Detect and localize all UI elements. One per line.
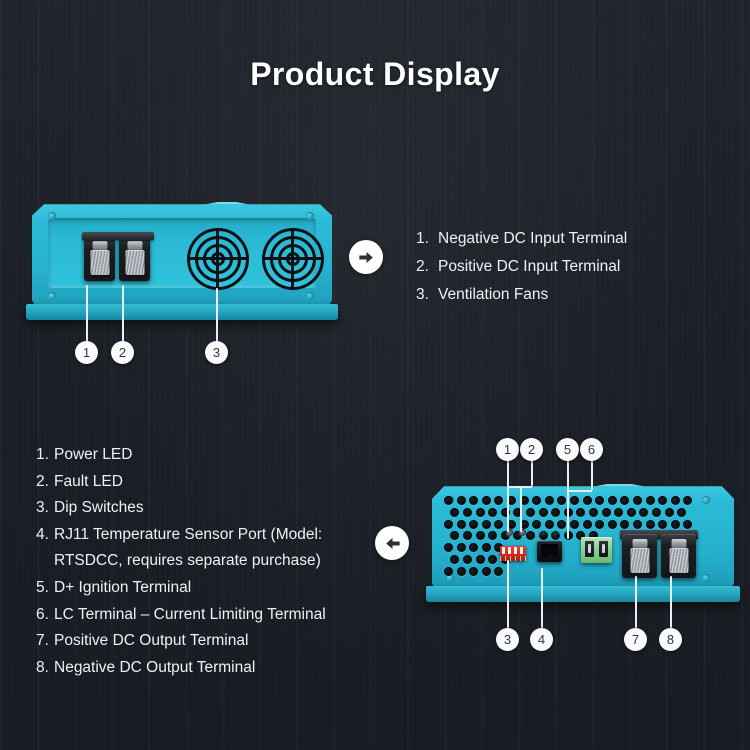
screw-icon [306,292,314,300]
vent-hole [494,520,503,529]
vent-hole [595,520,604,529]
positive-dc-output-terminal [622,534,657,578]
list-item-number: 5. [36,575,54,602]
callout-leader-line [567,460,569,539]
list-item-label: Negative DC Input Terminal [438,225,627,253]
vent-hole [570,496,579,505]
list-item: 7.Positive DC Output Terminal [36,628,381,655]
list-item-label: RJ11 Temperature Sensor Port (Model: [54,522,322,549]
vent-hole [482,520,491,529]
vent-hole [646,496,655,505]
vent-hole [488,508,497,517]
terminal-bolt-icon [671,539,686,548]
callout-leader-line [520,486,522,532]
list-item: 4.RJ11 Temperature Sensor Port (Model: [36,522,381,549]
callout-leader-line [507,460,509,532]
vent-hole [469,567,478,576]
vent-hole [463,555,472,564]
list-item-number: 7. [36,628,54,655]
terminal-stud-icon [90,250,109,275]
bottom-device-legend: 1.Power LED 2.Fault LED 3.Dip Switches 4… [36,442,381,681]
vent-hole [482,567,491,576]
terminal-bolt-icon [632,539,647,548]
vent-hole [444,567,453,576]
screw-icon [48,292,56,300]
vent-hole [457,567,466,576]
screw-icon [702,496,710,504]
vent-hole [444,520,453,529]
vent-hole [494,496,503,505]
callout-3[interactable]: 3 [205,341,228,364]
green-terminal-block [581,537,612,563]
terminal-stud-icon [630,548,649,573]
callout-4[interactable]: 4 [530,628,553,651]
negative-dc-input-terminal [84,236,115,281]
screw-icon [702,574,710,582]
vent-hole [476,508,485,517]
vent-hole [589,508,598,517]
list-item-number: 8. [36,655,54,682]
callout-leader-line [216,288,218,342]
dip-switch-lever[interactable] [514,547,517,554]
green-terminal-pin [599,541,608,557]
vent-hole [463,531,472,540]
list-item-number: 4. [36,522,54,549]
terminal-stud-icon [669,548,688,573]
fan-spoke [187,257,249,260]
list-item-number: 2. [36,469,54,496]
list-item: 1.Power LED [36,442,381,469]
page-title: Product Display [0,56,750,93]
list-item-label: LC Terminal – Current Limiting Terminal [54,602,326,629]
callout-1[interactable]: 1 [75,341,98,364]
vent-hole [526,508,535,517]
arrow-right-circle-icon [349,240,383,274]
dip-switch-lever[interactable] [502,547,505,554]
screw-icon [306,212,314,220]
vent-hole [482,496,491,505]
vent-hole [450,555,459,564]
vent-hole [545,496,554,505]
dip-switch-lever[interactable] [508,547,511,554]
vent-hole [614,508,623,517]
vent-hole [602,508,611,517]
ventilation-fan-left [187,228,249,290]
list-item-label: Ventilation Fans [438,281,548,309]
list-item-label: Fault LED [54,469,123,496]
list-item-label: D+ Ignition Terminal [54,575,191,602]
vent-hole [557,520,566,529]
vent-hole [583,520,592,529]
sensor-marking-label: SENSOR [537,530,568,537]
list-item-label: Positive DC Input Terminal [438,253,620,281]
vent-hole [627,508,636,517]
callout-leader-line [531,460,533,486]
terminal-stud-icon [125,250,144,275]
callout-leader-line [635,576,637,628]
vent-hole [658,496,667,505]
vent-hole [658,520,667,529]
terminal-bolt-icon [127,241,142,250]
callout-5[interactable]: 5 [556,438,579,461]
list-item: 3.Dip Switches [36,495,381,522]
dip-switch-lever[interactable] [520,547,523,554]
list-item-label: Dip Switches [54,495,144,522]
vent-hole [551,508,560,517]
vent-hole [576,508,585,517]
list-item-number: 1. [36,442,54,469]
list-item-number: 1. [416,225,438,253]
vent-hole [633,520,642,529]
vent-hole [532,520,541,529]
vent-hole [639,508,648,517]
vent-hole [444,543,453,552]
vent-hole [633,496,642,505]
vent-hole [532,496,541,505]
vent-hole [457,520,466,529]
rj11-tab [547,555,552,561]
vent-hole [457,496,466,505]
vent-hole [488,555,497,564]
list-item: 2.Fault LED [36,469,381,496]
vent-hole [665,508,674,517]
vent-hole [545,520,554,529]
terminal-bolt-icon [92,241,107,250]
vent-hole [652,508,661,517]
callout-2[interactable]: 2 [520,438,543,461]
list-item-number: 3. [36,495,54,522]
callout-leader-line [567,490,592,492]
list-item-label: Power LED [54,442,132,469]
vent-hole [469,543,478,552]
arrow-left-circle-icon [375,526,409,560]
list-item-number: 3. [416,281,438,309]
device-base-rail [426,586,740,602]
rj11-temperature-sensor-port [537,541,562,562]
list-item-number: 6. [36,602,54,629]
vent-hole [494,567,503,576]
vent-hole [608,496,617,505]
vent-hole [463,508,472,517]
vent-hole [583,496,592,505]
vent-hole [450,508,459,517]
vent-hole [608,520,617,529]
vent-hole [476,531,485,540]
callout-leader-line [670,576,672,628]
vent-hole [488,531,497,540]
list-item-label: Positive DC Output Terminal [54,628,248,655]
vent-hole [469,520,478,529]
list-item: 8.Negative DC Output Terminal [36,655,381,682]
vent-hole [620,496,629,505]
callout-leader-line [591,460,593,490]
vent-hole [450,531,459,540]
vent-hole [476,555,485,564]
callout-leader-line [122,285,124,342]
callout-3[interactable]: 3 [496,628,519,651]
vent-hole [482,543,491,552]
minus-marking-label: − [701,556,705,563]
list-item: 1.Negative DC Input Terminal [416,225,716,253]
list-item-continuation: RTSDCC, requires separate purchase) [36,548,381,575]
inverter-back-panel-image: SENSOR REMOTE + − [424,478,742,623]
vent-hole [457,543,466,552]
inverter-front-panel-image [22,196,342,336]
callout-1[interactable]: 1 [496,438,519,461]
list-item-label: Negative DC Output Terminal [54,655,255,682]
list-item: 6.LC Terminal – Current Limiting Termina… [36,602,381,629]
vent-hole [683,520,692,529]
green-terminal-pin [585,541,594,557]
callout-2[interactable]: 2 [111,341,134,364]
list-item: 2.Positive DC Input Terminal [416,253,716,281]
callout-leader-line [86,285,88,342]
vent-hole [646,520,655,529]
callout-7[interactable]: 7 [624,628,647,651]
vent-hole [570,520,579,529]
vent-hole [677,508,686,517]
callout-leader-line [541,568,543,628]
fan-spoke [262,257,324,260]
vent-hole [444,496,453,505]
negative-dc-output-terminal [661,534,696,578]
vent-hole [595,496,604,505]
callout-leader-line [507,560,509,628]
screw-icon [48,212,56,220]
positive-dc-input-terminal [119,236,150,281]
vent-hole [557,496,566,505]
top-device-legend: 1.Negative DC Input Terminal 2.Positive … [416,225,716,309]
vent-hole [671,496,680,505]
terminal-cover-lip [82,232,154,240]
vent-hole [526,531,535,540]
list-item: 5.D+ Ignition Terminal [36,575,381,602]
vent-hole [620,520,629,529]
vent-hole [671,520,680,529]
callout-8[interactable]: 8 [659,628,682,651]
ventilation-fan-right [262,228,324,290]
list-item-number: 2. [416,253,438,281]
vent-hole [683,496,692,505]
device-base-rail [26,304,338,320]
dip-switches[interactable] [500,546,526,561]
vent-hole [469,496,478,505]
callout-6[interactable]: 6 [580,438,603,461]
dip-switch-labels [500,556,526,561]
list-item: 3.Ventilation Fans [416,281,716,309]
vent-hole [539,508,548,517]
